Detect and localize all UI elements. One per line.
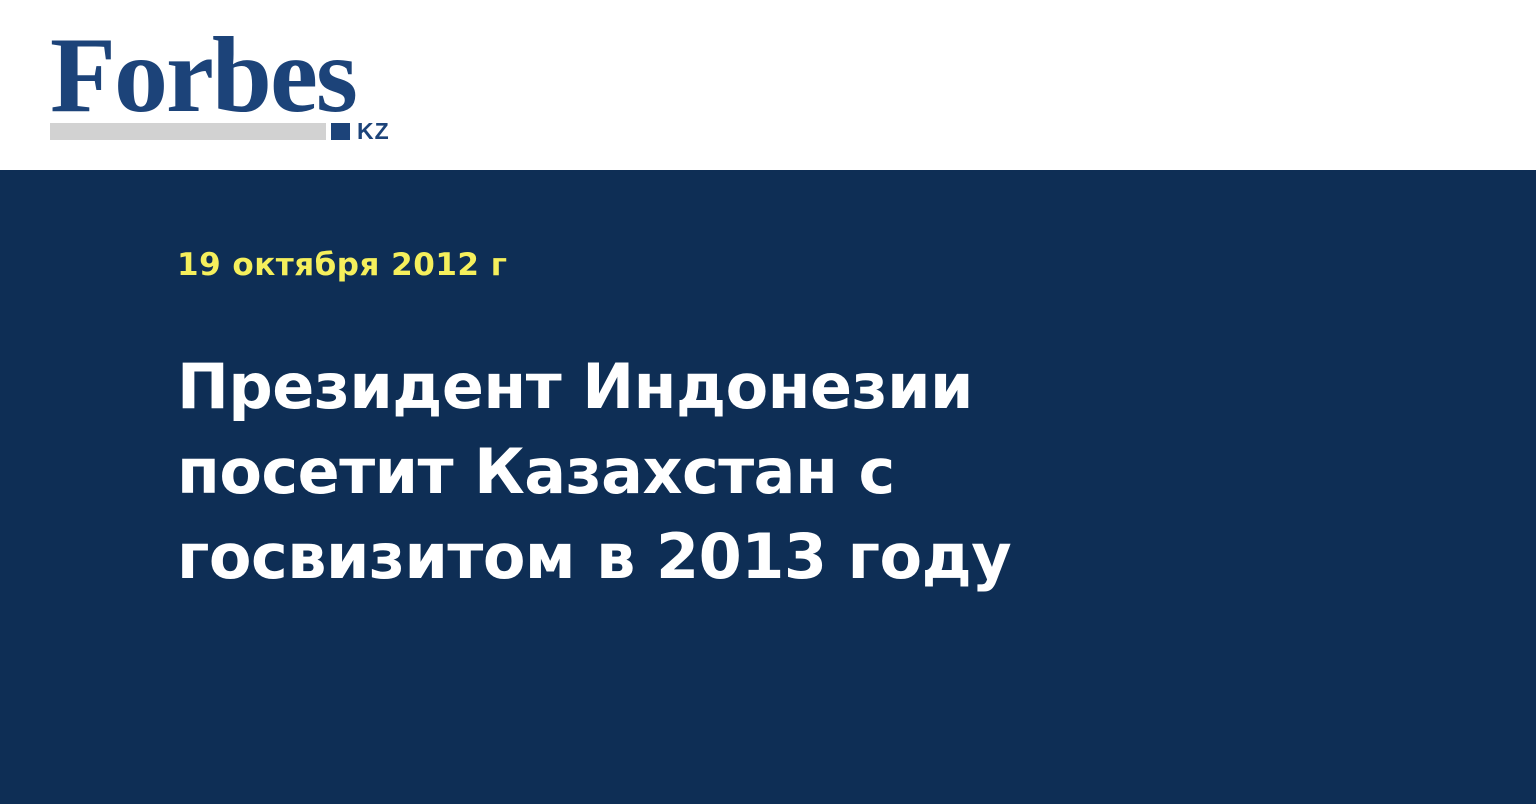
- logo-rule: [50, 123, 326, 140]
- page-title: Президент Индонезии посетит Казахстан с …: [177, 344, 1247, 599]
- article-page: Forbes KZ 19 октября 2012 г Президент Ин…: [0, 0, 1536, 804]
- forbes-kz-logo[interactable]: Forbes KZ: [50, 22, 410, 147]
- logo-wordmark: Forbes: [50, 22, 356, 130]
- article-hero: 19 октября 2012 г Президент Индонезии по…: [0, 170, 1536, 804]
- logo-country-code: KZ: [357, 120, 390, 143]
- article-date: 19 октября 2012 г: [177, 248, 507, 282]
- logo-square-icon: [331, 123, 350, 140]
- site-header: Forbes KZ: [0, 0, 1536, 170]
